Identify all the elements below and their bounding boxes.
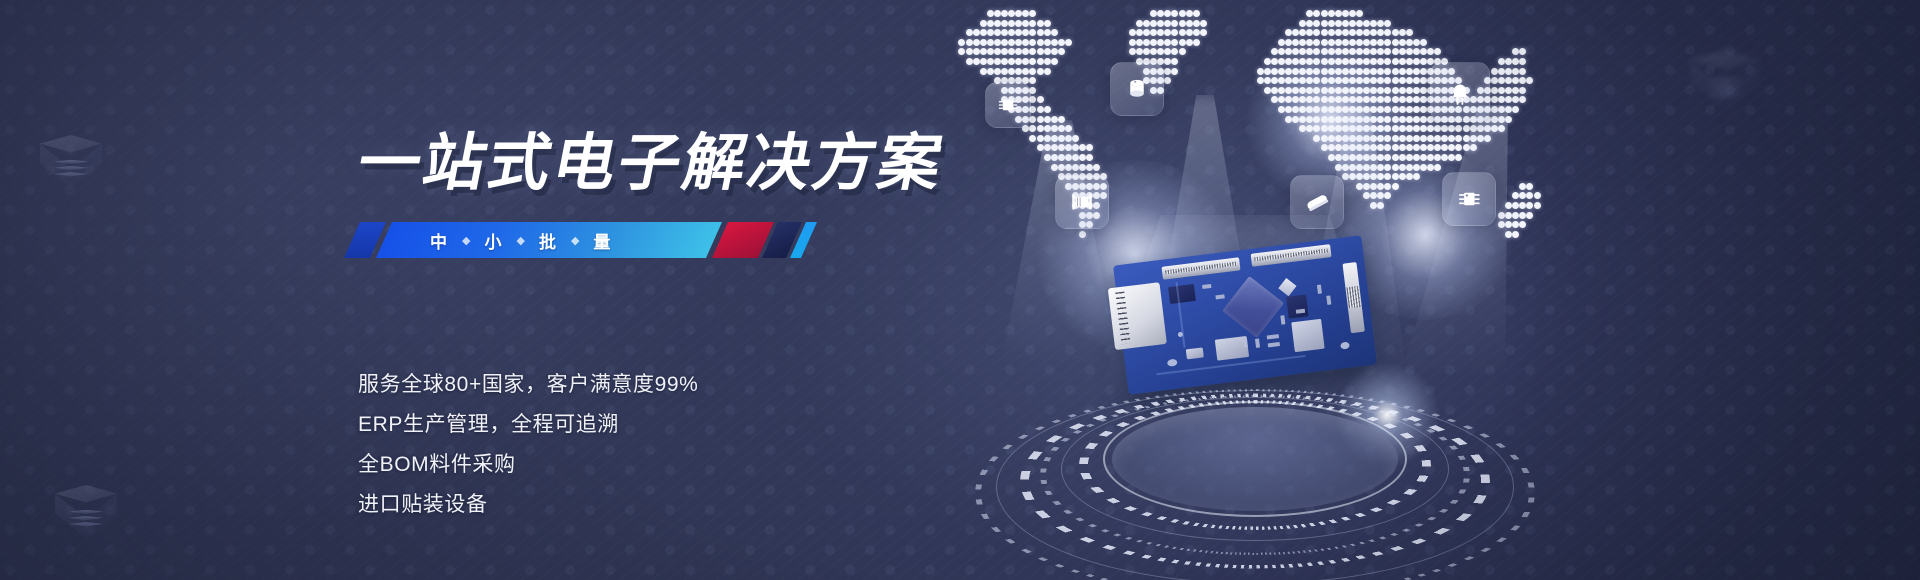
- feature-list-item: 进口贴装设备: [358, 493, 698, 517]
- ribbon-separator: ◆: [557, 234, 593, 247]
- ribbon-separator: ◆: [448, 234, 484, 247]
- feature-list-item: 全BOM料件采购: [358, 453, 698, 477]
- vignette-overlay: [0, 0, 1920, 580]
- feature-list: 服务全球80+国家，客户满意度99%ERP生产管理，全程可追溯全BOM料件采购进…: [358, 373, 698, 518]
- ribbon-separator: ◆: [502, 234, 538, 247]
- ribbon-word: 中: [430, 228, 448, 253]
- ribbon-word: 小: [484, 228, 502, 253]
- hero-banner: 一站式电子解决方案 中◆小◆批◆量 服务全球80+国家，客户满意度99%ERP生…: [0, 0, 1920, 580]
- ribbon-label-group: 中◆小◆批◆量: [430, 222, 611, 258]
- page-title: 一站式电子解决方案: [351, 112, 954, 202]
- ribbon-word: 批: [539, 228, 557, 253]
- feature-list-item: ERP生产管理，全程可追溯: [358, 413, 698, 437]
- feature-list-item: 服务全球80+国家，客户满意度99%: [358, 373, 698, 397]
- ribbon-word: 量: [593, 228, 611, 253]
- tagline-ribbon: 中◆小◆批◆量: [352, 222, 804, 258]
